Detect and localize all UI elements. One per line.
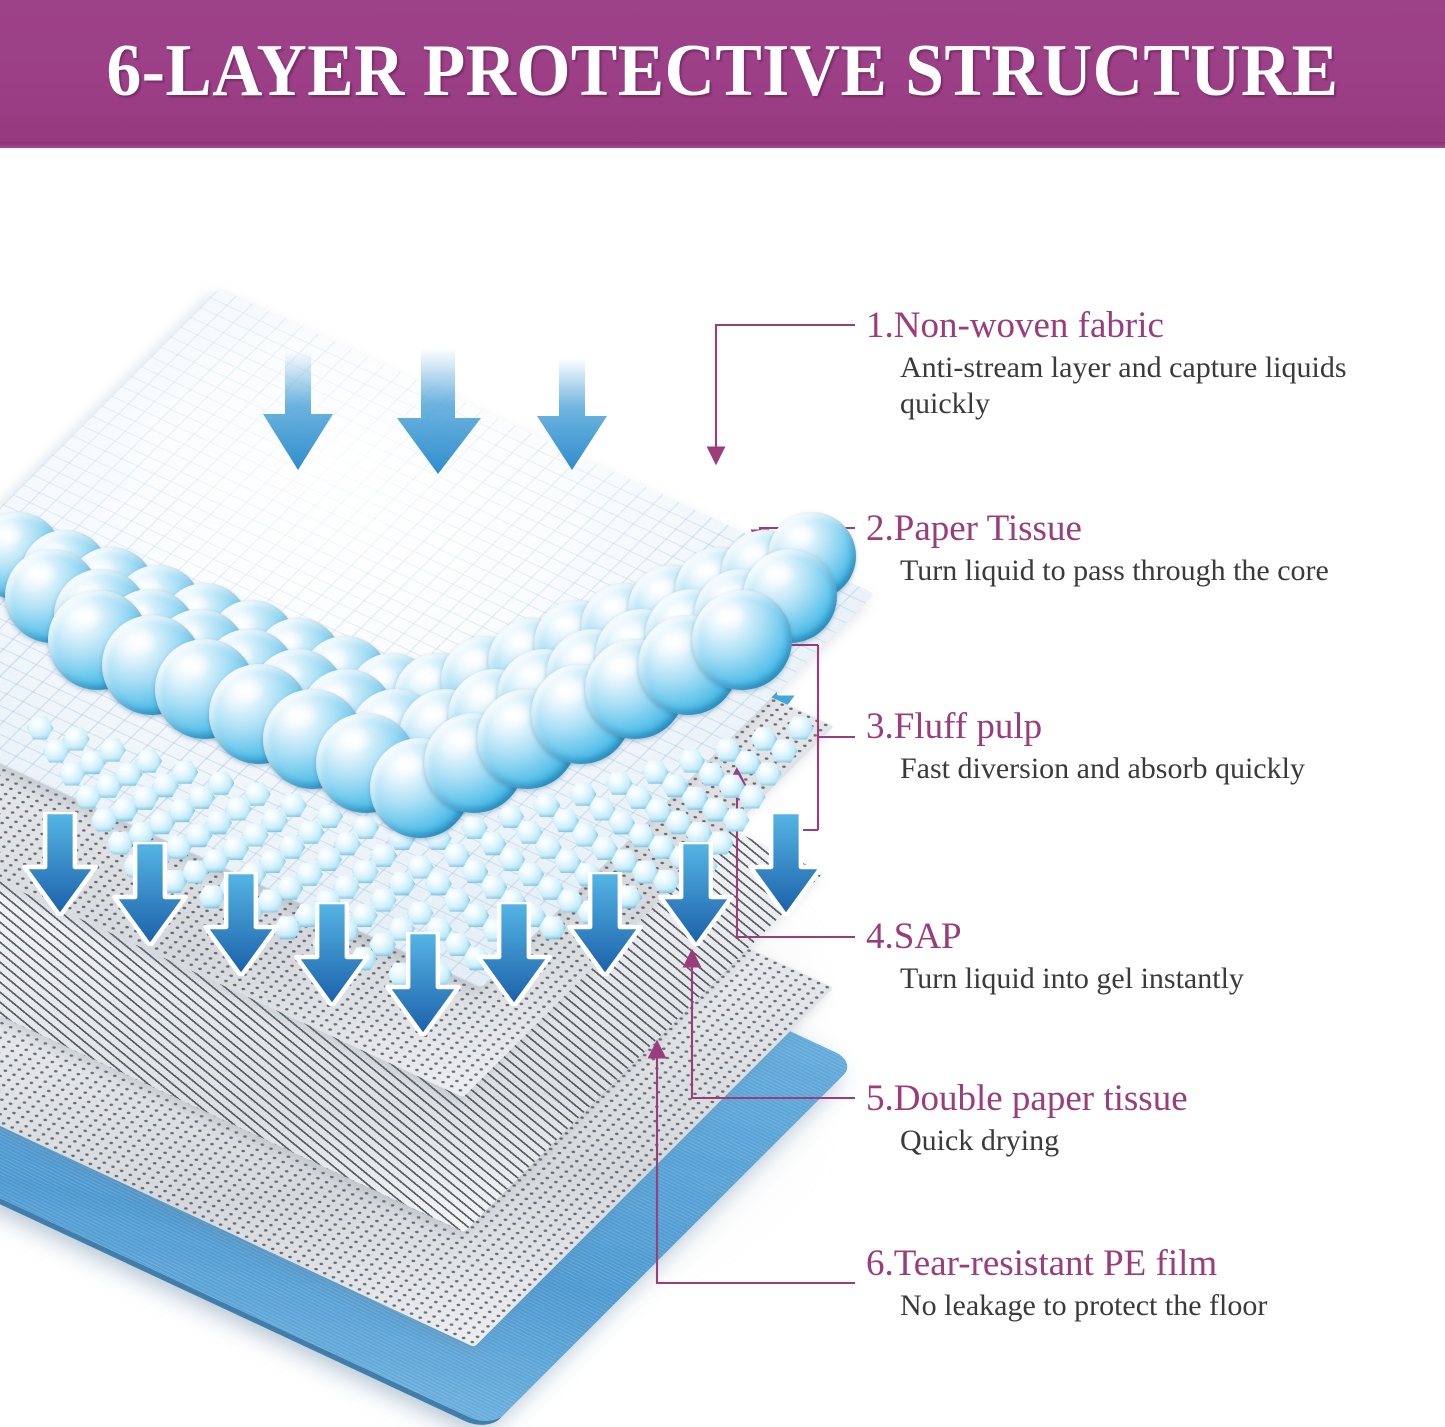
label-desc-5: Quick drying [900, 1123, 1188, 1160]
label-number-4: 4. [866, 916, 894, 957]
label-number-1: 1. [866, 305, 894, 346]
label-item-2: 2.Paper Tissue Turn liquid to pass throu… [866, 510, 1329, 589]
label-name-6: Tear-resistant PE film [894, 1243, 1217, 1284]
label-desc-6: No leakage to protect the floor [900, 1288, 1267, 1325]
label-item-4: 4.SAP Turn liquid into gel instantly [866, 918, 1244, 997]
label-title-1: 1.Non-woven fabric [866, 307, 1370, 346]
label-number-2: 2. [866, 508, 894, 549]
label-title-6: 6.Tear-resistant PE film [866, 1245, 1267, 1284]
label-name-5: Double paper tissue [894, 1078, 1188, 1119]
label-name-3: Fluff pulp [894, 706, 1042, 747]
label-item-3: 3.Fluff pulp Fast diversion and absorb q… [866, 708, 1305, 787]
label-number-5: 5. [866, 1078, 894, 1119]
label-name-1: Non-woven fabric [894, 305, 1164, 346]
label-item-5: 5.Double paper tissue Quick drying [866, 1080, 1188, 1159]
label-desc-1: Anti-stream layer and capture liquids qu… [900, 350, 1370, 423]
label-number-3: 3. [866, 706, 894, 747]
label-name-2: Paper Tissue [894, 508, 1082, 549]
label-desc-2: Turn liquid to pass through the core [900, 553, 1329, 590]
label-title-4: 4.SAP [866, 918, 1244, 957]
label-name-4: SAP [894, 916, 962, 957]
label-column: 1.Non-woven fabric Anti-stream layer and… [0, 0, 1445, 1374]
label-desc-4: Turn liquid into gel instantly [900, 961, 1244, 998]
label-item-6: 6.Tear-resistant PE film No leakage to p… [866, 1245, 1267, 1324]
label-number-6: 6. [866, 1243, 894, 1284]
label-title-2: 2.Paper Tissue [866, 510, 1329, 549]
label-item-1: 1.Non-woven fabric Anti-stream layer and… [866, 307, 1370, 423]
label-desc-3: Fast diversion and absorb quickly [900, 751, 1305, 788]
label-title-5: 5.Double paper tissue [866, 1080, 1188, 1119]
label-title-3: 3.Fluff pulp [866, 708, 1305, 747]
